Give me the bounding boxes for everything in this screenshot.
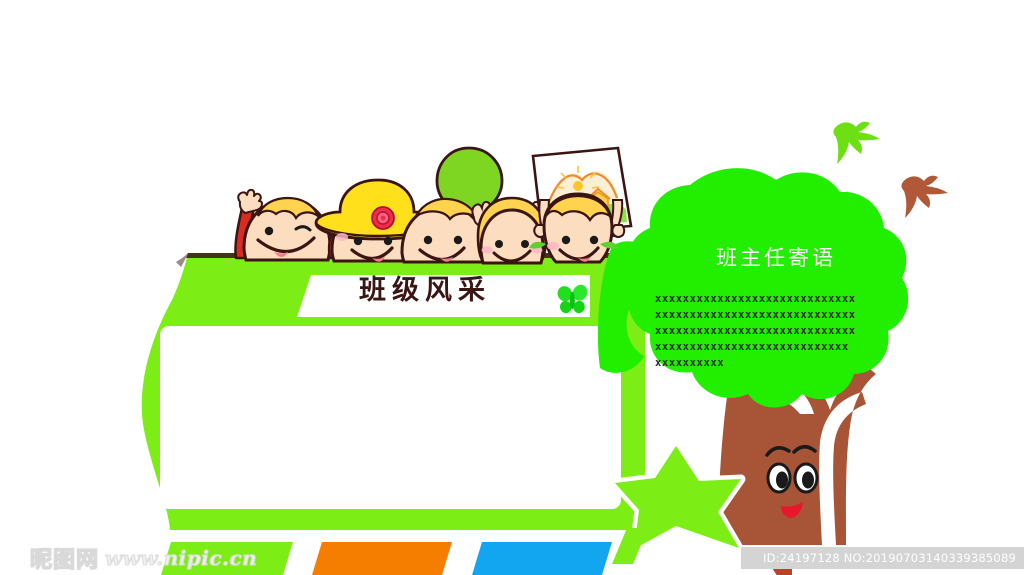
message-line: xxxxxxxxxxxxxxxxxxxxxxxxxxxx bbox=[655, 339, 895, 355]
children-illustration bbox=[235, 148, 631, 263]
child-5 bbox=[529, 148, 631, 262]
message-line: xxxxxxxxxx bbox=[655, 355, 895, 371]
bird-brown-icon bbox=[901, 176, 948, 218]
bottom-bar-blue bbox=[472, 542, 612, 575]
poster-canvas: 班级风采 班主任寄语 xxxxxxxxxxxxxxxxxxxxxxxxxxxxx… bbox=[0, 0, 1024, 575]
image-id-label: ID:24197128 NO:20190703140339385089 bbox=[763, 551, 1016, 565]
message-line: xxxxxxxxxxxxxxxxxxxxxxxxxxxxx bbox=[655, 291, 895, 307]
class-board-title: 班级风采 bbox=[315, 277, 535, 304]
class-content-area[interactable] bbox=[160, 326, 621, 509]
bird-green-icon bbox=[833, 122, 880, 164]
hat-flower-icon bbox=[372, 207, 394, 229]
teacher-message-body: xxxxxxxxxxxxxxxxxxxxxxxxxxxxx xxxxxxxxxx… bbox=[655, 291, 895, 371]
message-line: xxxxxxxxxxxxxxxxxxxxxxxxxxxxx bbox=[655, 323, 895, 339]
bottom-bars bbox=[161, 528, 648, 575]
teacher-message-heading: 班主任寄语 bbox=[651, 248, 901, 269]
message-line: xxxxxxxxxxxxxxxxxxxxxxxxxxxxx bbox=[655, 307, 895, 323]
image-id-bar: ID:24197128 NO:20190703140339385089 bbox=[741, 547, 1024, 569]
bottom-bar-orange bbox=[312, 542, 452, 575]
bottom-bar-green bbox=[161, 542, 293, 575]
